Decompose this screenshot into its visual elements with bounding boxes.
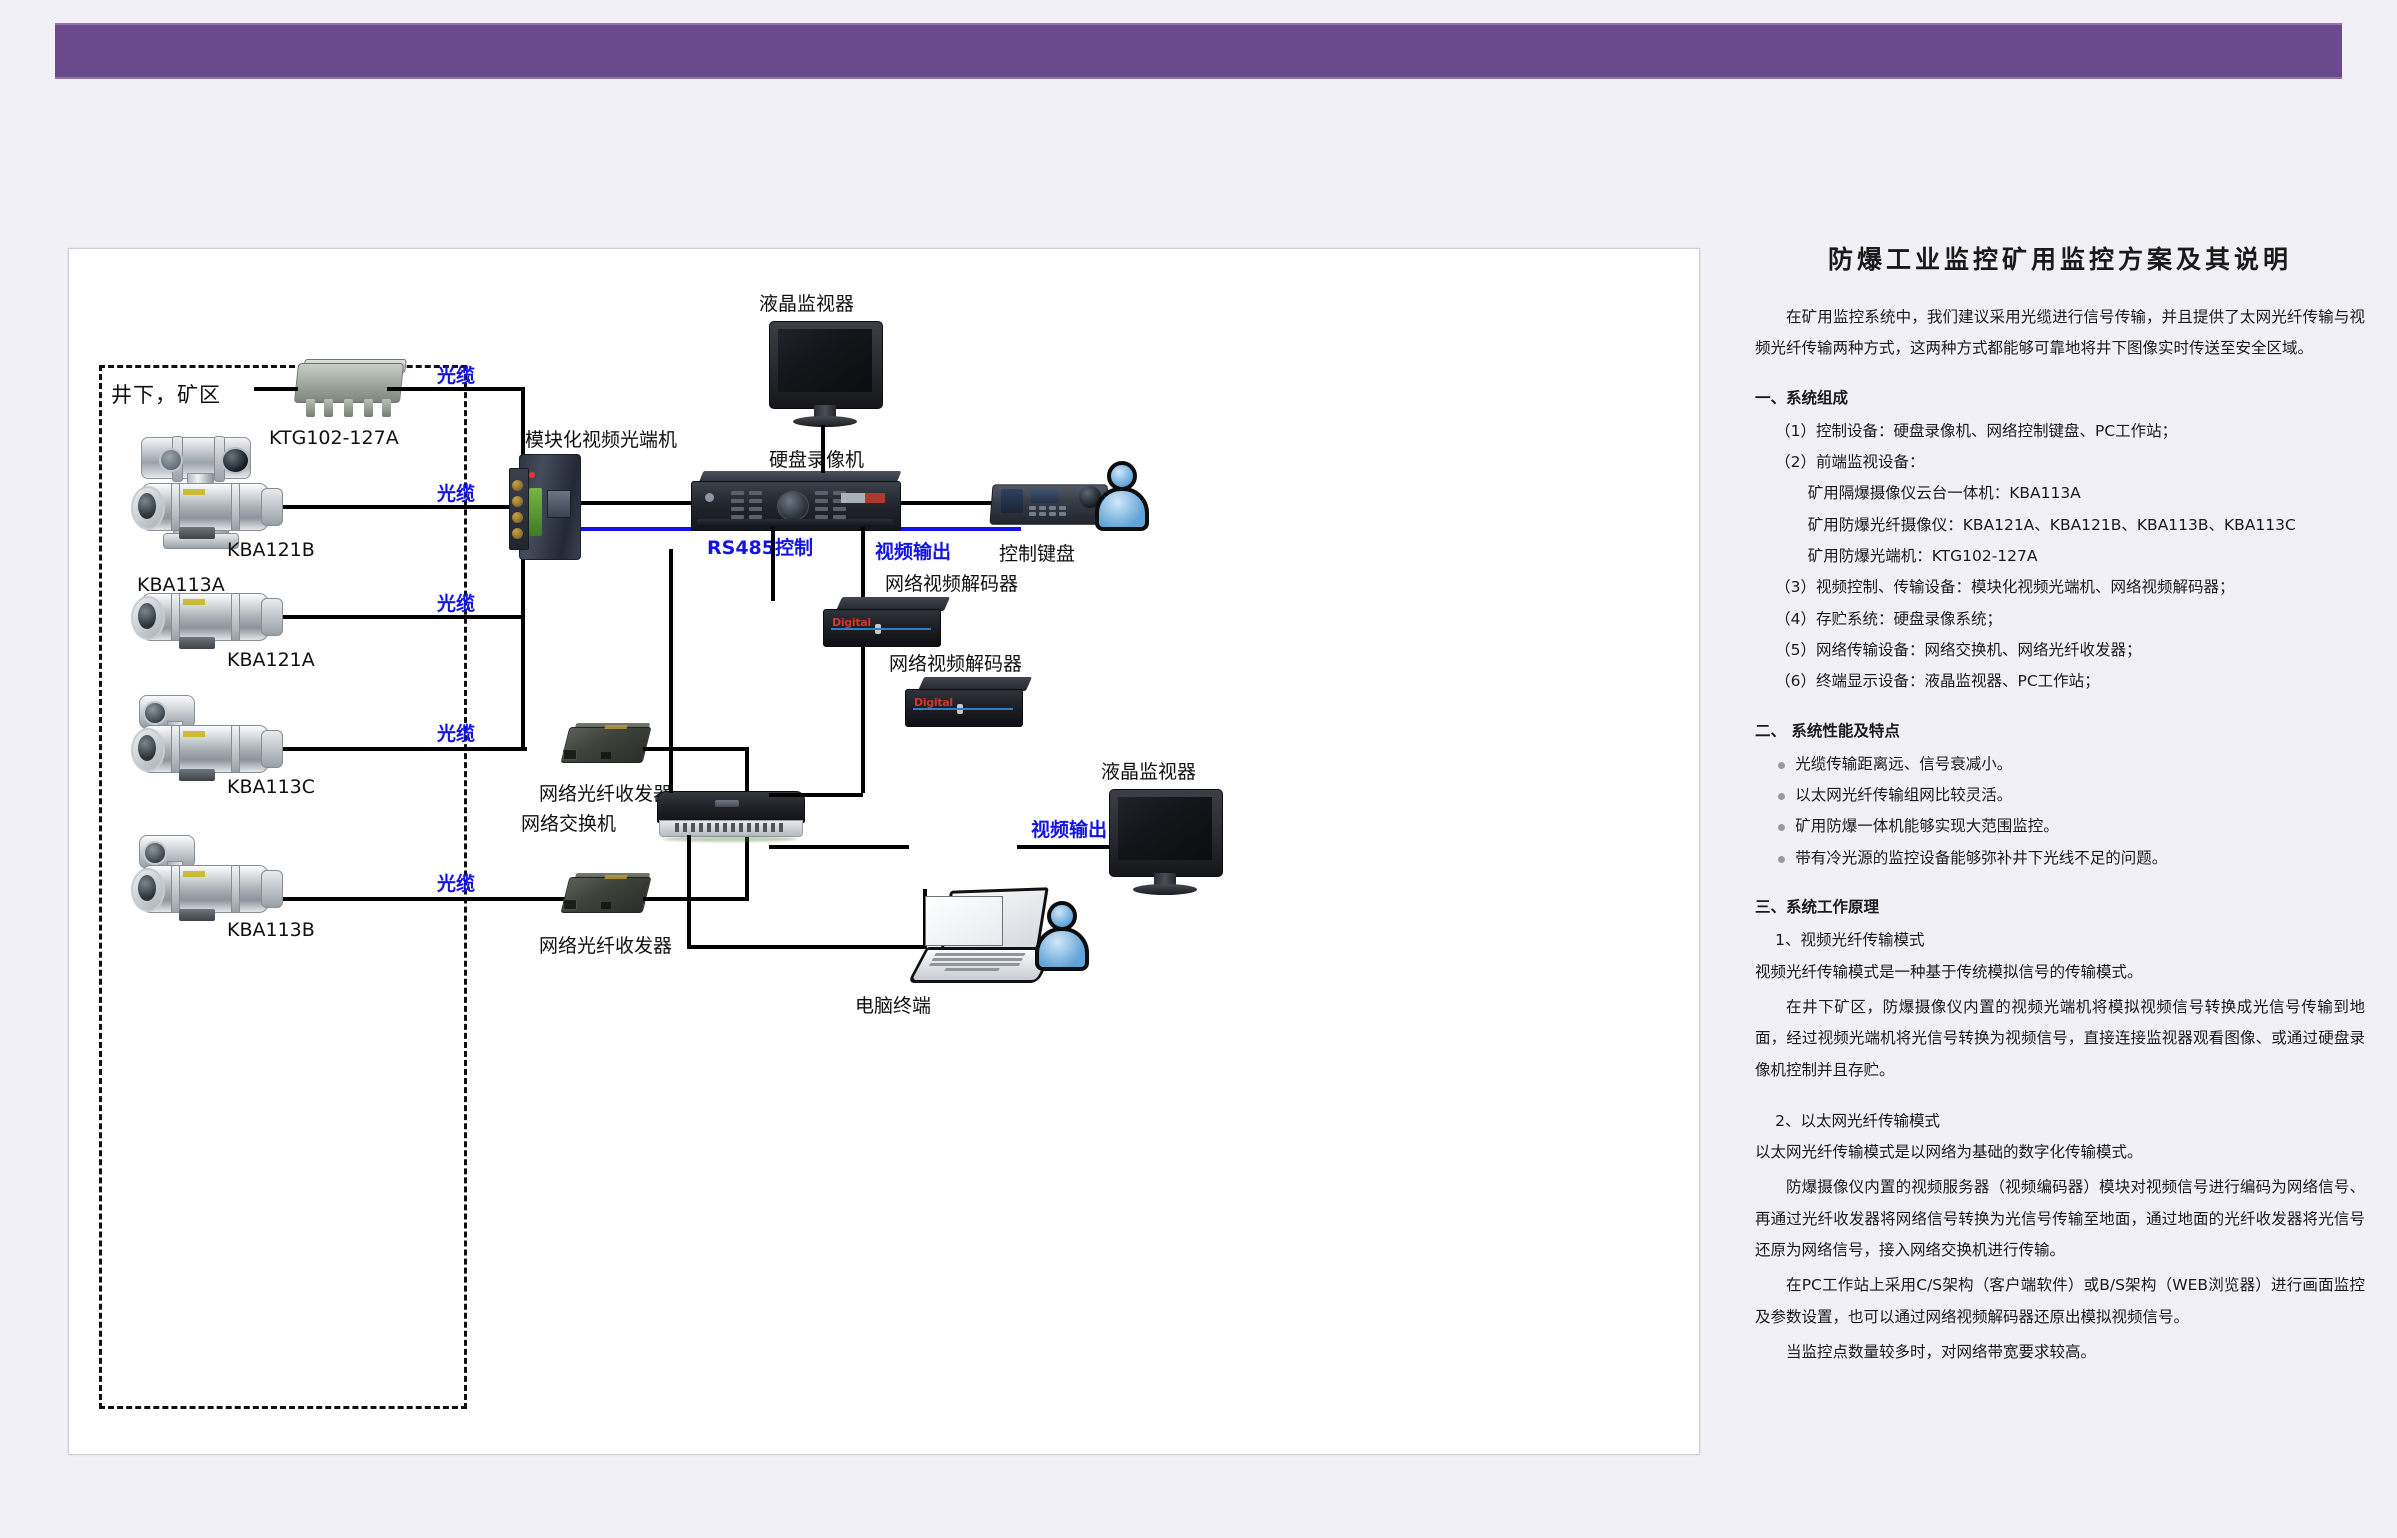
label-kba121b: KBA121B (227, 539, 315, 561)
label-control-keyboard: 控制键盘 (999, 539, 1075, 566)
wire-switch-trunk-up (669, 549, 673, 793)
wire-kba121b-to-optical-terminal (283, 505, 525, 509)
wire-switch-down-to-pc (687, 835, 691, 947)
network-diagram-panel: 井下，矿区 KBA113A KTG102-127A 光缆 KBA121B 光缆 … (68, 248, 1700, 1455)
section-3-paragraph-1: 视频光纤传输模式是一种基于传统模拟信号的传输模式。 (1755, 957, 2365, 988)
wire-kba113c-to-trunk (283, 747, 527, 751)
wire-converter-top-to-switch (643, 747, 749, 751)
label-lcd-monitor-bottom: 液晶监视器 (1101, 757, 1196, 784)
top-banner (55, 23, 2342, 79)
label-lcd-monitor-top: 液晶监视器 (759, 289, 854, 316)
pc-operator-person-icon (1033, 901, 1089, 973)
label-video-output-3: 视频输出 (1031, 815, 1107, 842)
label-modular-optical-terminal: 模块化视频光端机 (525, 425, 677, 452)
lcd-monitor-top-image (769, 321, 881, 429)
label-media-converter-bottom: 网络光纤收发器 (539, 931, 672, 958)
section-2-bullet-1: 光缆传输距离远、信号衰减小。 (1755, 749, 2365, 780)
wire-converter-bottom-to-switch (643, 897, 749, 901)
wire-decoder-top-to-switch (861, 645, 865, 793)
section-1-item-2: （2）前端监视设备： (1755, 447, 2365, 478)
wire-switch-to-decoder-bottom (769, 845, 909, 849)
page-title: 防爆工业监控矿用监控方案及其说明 (1755, 240, 2365, 276)
label-pc-terminal: 电脑终端 (855, 991, 931, 1018)
camera-kba113c-image (127, 719, 287, 781)
label-kba113b: KBA113B (227, 919, 315, 941)
camera-kba121a-image (127, 587, 287, 649)
label-video-output-2: 视频输出 (875, 537, 951, 564)
solution-description: 防爆工业监控矿用监控方案及其说明 在矿用监控系统中，我们建议采用光缆进行信号传输… (1755, 240, 2365, 1372)
section-1-subitem-1: 矿用隔爆摄像仪云台一体机：KBA113A (1755, 478, 2365, 509)
section-2-bullet-3: 矿用防爆一体机能够实现大范围监控。 (1755, 811, 2365, 842)
network-switch-image (657, 791, 803, 845)
section-1-item-6: （6）终端显示设备：液晶监视器、PC工作站； (1755, 666, 2365, 697)
wire-kba113a-to-jbox (254, 387, 298, 391)
label-dvr: 硬盘录像机 (769, 445, 864, 472)
section-2-bullet-4: 带有冷光源的监控设备能够弥补井下光线不足的问题。 (1755, 843, 2365, 874)
wire-monitor-top-to-dvr (821, 425, 825, 473)
section-3-sub-2: 2、以太网光纤传输模式 (1755, 1106, 2365, 1137)
section-2-bullet-2: 以太网光纤传输组网比较灵活。 (1755, 780, 2365, 811)
control-keyboard-image (991, 477, 1109, 529)
section-3-paragraph-2: 在井下矿区，防爆摄像仪内置的视频光端机将模拟视频信号转换成光信号传输到地面，经过… (1755, 992, 2365, 1086)
wire-dvr-to-keyboard (907, 501, 995, 505)
fiber-media-converter-top-image (561, 723, 649, 769)
section-3-sub-1: 1、视频光纤传输模式 (1755, 925, 2365, 956)
section-3-heading: 三、系统工作原理 (1755, 892, 2365, 923)
network-video-decoder-bottom-image: Digital (905, 677, 1033, 733)
network-video-decoder-top-image: Digital (823, 597, 951, 653)
label-kba121a: KBA121A (227, 649, 315, 671)
intro-paragraph: 在矿用监控系统中，我们建议采用光缆进行信号传输，并且提供了太网光纤传输与视频光纤… (1755, 302, 2365, 365)
mine-zone-label: 井下，矿区 (111, 379, 221, 409)
operator-person-icon (1093, 461, 1149, 533)
wire-switch-to-decoder-top (769, 793, 863, 797)
section-3-paragraph-5: 在PC工作站上采用C/S架构（客户端软件）或B/S架构（WEB浏览器）进行画面监… (1755, 1270, 2365, 1333)
lcd-monitor-bottom-image (1109, 789, 1221, 897)
label-fiber-cable-3: 光缆 (437, 589, 475, 616)
label-ktg102-127a: KTG102-127A (269, 427, 399, 449)
section-1-item-1: （1）控制设备：硬盘录像机、网络控制键盘、PC工作站； (1755, 416, 2365, 447)
label-media-converter-top: 网络光纤收发器 (539, 779, 672, 806)
label-fiber-cable-5: 光缆 (437, 869, 475, 896)
section-3-paragraph-3: 以太网光纤传输模式是以网络为基础的数字化传输模式。 (1755, 1137, 2365, 1168)
section-1-item-4: （4）存贮系统：硬盘录像系统； (1755, 604, 2365, 635)
fiber-media-converter-bottom-image (561, 873, 649, 919)
wire-pc-branch (687, 945, 927, 949)
label-fiber-cable-1: 光缆 (437, 361, 475, 388)
section-1-heading: 一、系统组成 (1755, 383, 2365, 414)
section-2-heading: 二、 系统性能及特点 (1755, 716, 2365, 747)
label-fiber-cable-2: 光缆 (437, 479, 475, 506)
label-fiber-cable-4: 光缆 (437, 719, 475, 746)
camera-kba113b-image (127, 859, 287, 921)
camera-kba121b-image (127, 477, 287, 539)
label-decoder-bottom: 网络视频解码器 (889, 649, 1022, 676)
spacer (1755, 1090, 2365, 1106)
label-network-switch: 网络交换机 (521, 809, 616, 836)
modular-video-optical-terminal-image (509, 454, 581, 562)
label-kba113c: KBA113C (227, 776, 315, 798)
section-1-item-3: （3）视频控制、传输设备：模块化视频光端机、网络视频解码器； (1755, 572, 2365, 603)
wire-trunk-down-2 (521, 559, 525, 749)
section-1-subitem-2: 矿用防爆光纤摄像仪：KBA121A、KBA121B、KBA113B、KBA113… (1755, 510, 2365, 541)
dvr-image (691, 471, 906, 543)
section-1-subitem-3: 矿用防爆光端机：KTG102-127A (1755, 541, 2365, 572)
wire-dvr-down-left (771, 527, 775, 601)
section-3-paragraph-4: 防爆摄像仪内置的视频服务器（视频编码器）模块对视频信号进行编码为网络信号、再通过… (1755, 1172, 2365, 1266)
label-decoder-top: 网络视频解码器 (885, 569, 1018, 596)
wire-kba121a-to-trunk (283, 615, 525, 619)
section-3-paragraph-6: 当监控点数量较多时，对网络带宽要求较高。 (1755, 1337, 2365, 1368)
section-1-item-5: （5）网络传输设备：网络交换机、网络光纤收发器； (1755, 635, 2365, 666)
pc-terminal-laptop-image (917, 889, 1047, 981)
